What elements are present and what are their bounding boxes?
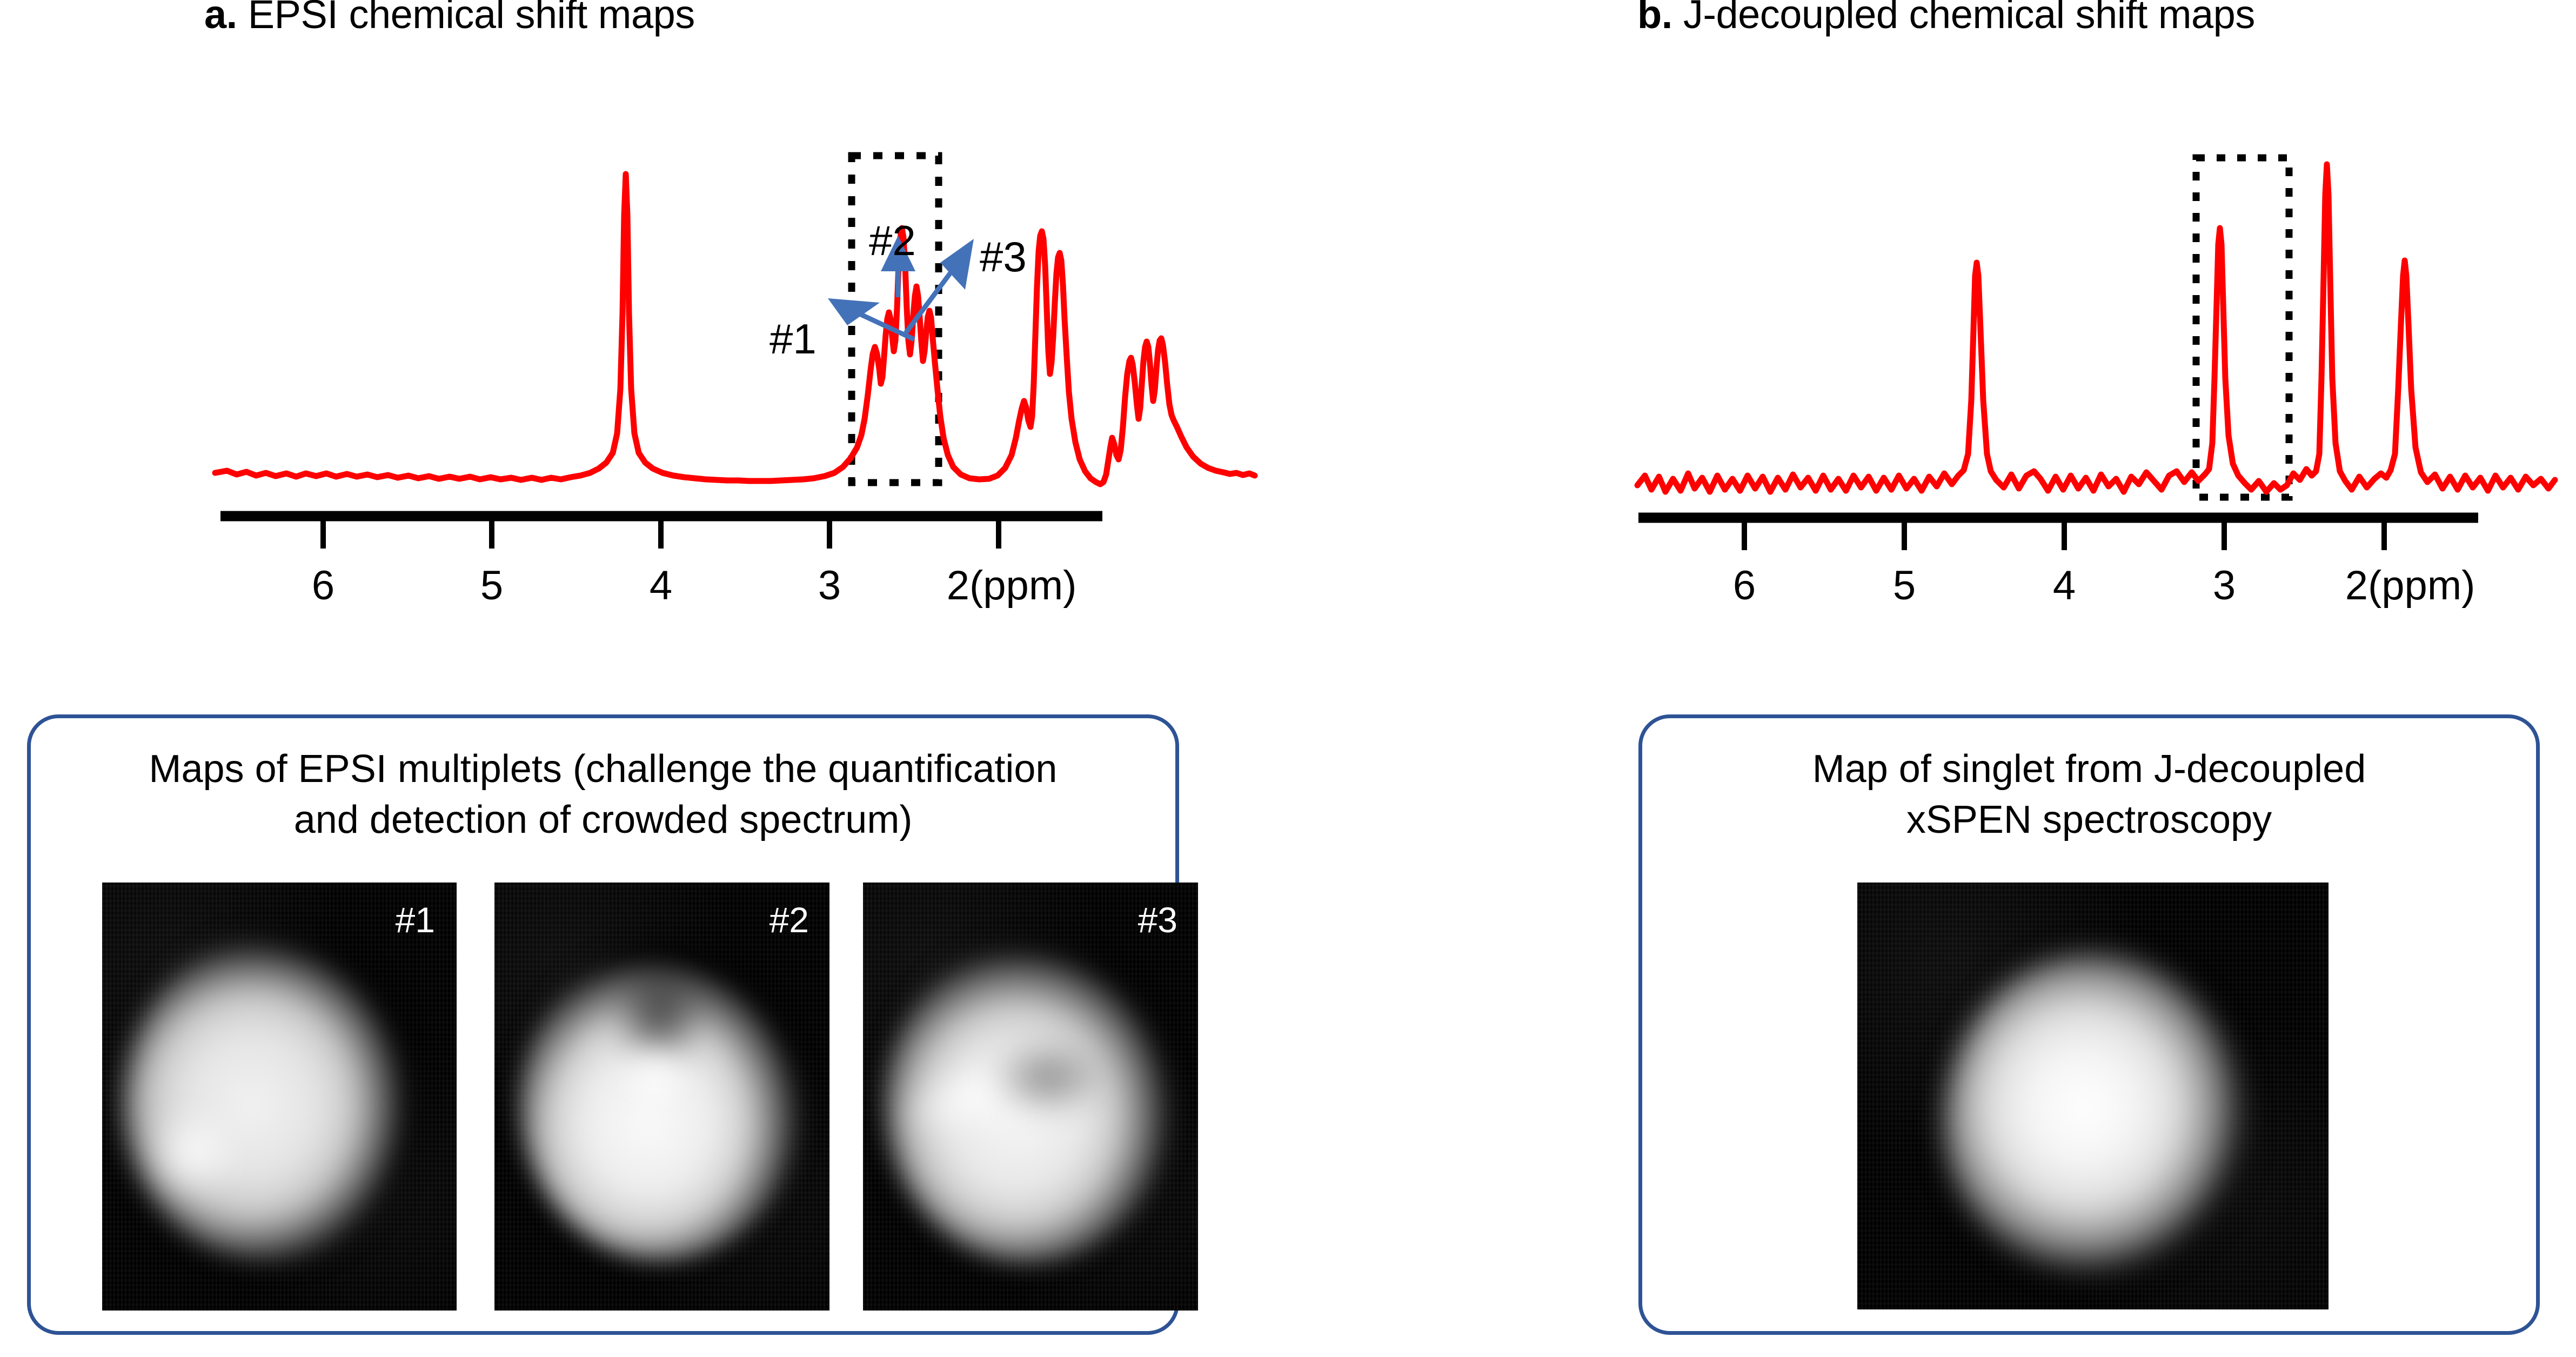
epsi-tick-label-6: 6 xyxy=(312,562,334,609)
map-2-hotspot xyxy=(620,1045,690,1109)
epsi-map-1-label: #1 xyxy=(396,902,435,938)
panel-b-title: b. J-decoupled chemical shift maps xyxy=(1637,0,2255,37)
panel-b-letter: b. xyxy=(1637,0,1672,37)
jdecoupled-tick-label-4: 4 xyxy=(2053,562,2076,609)
panel-a-title: a. EPSI chemical shift maps xyxy=(204,0,695,37)
panel-a-letter: a. xyxy=(204,0,237,37)
peak-tag-3: #3 xyxy=(980,232,1027,282)
jdecoupled-spectrum-plot xyxy=(1632,97,2561,513)
epsi-tick-label-4: 4 xyxy=(650,562,672,609)
jdecoupled-tick-label-3: 3 xyxy=(2213,562,2236,609)
panel-a-title-text: EPSI chemical shift maps xyxy=(248,0,695,37)
panel-b-title-text: J-decoupled chemical shift maps xyxy=(1683,0,2255,37)
epsi-map-3: #3 xyxy=(863,883,1198,1311)
epsi-axis xyxy=(205,508,1264,557)
epsi-tick-label-2-ppm: 2(ppm) xyxy=(947,562,1077,609)
jdecoupled-box-caption: Map of singlet from J-decoupled xSPEN sp… xyxy=(1642,744,2536,845)
jdecoupled-trace xyxy=(1637,164,2555,492)
epsi-map-3-label: #3 xyxy=(1138,902,1177,938)
epsi-annotations xyxy=(746,124,1178,427)
epsi-annotation-svg xyxy=(746,124,1178,427)
map-1-hotspot xyxy=(144,1109,242,1196)
map-3-dark-center xyxy=(987,1039,1106,1115)
epsi-box-caption-line2: and detection of crowded spectrum) xyxy=(31,795,1175,846)
jdecoupled-spectrum-svg xyxy=(1632,97,2561,513)
map-1-blob xyxy=(123,937,414,1261)
epsi-map-2: #2 xyxy=(494,883,829,1311)
epsi-tick-label-3: 3 xyxy=(818,562,841,609)
jdecoupled-tick-label-6: 6 xyxy=(1733,562,1756,609)
epsi-tick-label-5: 5 xyxy=(480,562,503,609)
peak-tag-2: #2 xyxy=(869,216,916,265)
jdecoupled-axis-svg xyxy=(1632,508,2561,557)
jdecoupled-axis xyxy=(1632,508,2561,557)
epsi-map-2-label: #2 xyxy=(770,902,809,938)
epsi-maps-box: Maps of EPSI multiplets (challenge the q… xyxy=(27,714,1179,1335)
epsi-box-caption: Maps of EPSI multiplets (challenge the q… xyxy=(31,744,1175,845)
jdecoupled-box-caption-line2: xSPEN spectroscopy xyxy=(1642,795,2536,846)
epsi-box-caption-line1: Maps of EPSI multiplets (challenge the q… xyxy=(31,744,1175,795)
annotation-3-arrow-line xyxy=(906,269,953,333)
jdecoupled-box-caption-line1: Map of singlet from J-decoupled xyxy=(1642,744,2536,795)
epsi-axis-svg xyxy=(205,508,1264,557)
jdecoupled-tick-label-2-ppm: 2(ppm) xyxy=(2345,562,2475,609)
epsi-map-1: #1 xyxy=(102,883,457,1311)
jdecoupled-map-box: Map of singlet from J-decoupled xSPEN sp… xyxy=(1638,714,2540,1335)
jdecoupled-map xyxy=(1857,883,2329,1309)
peak-tag-1: #1 xyxy=(770,315,817,364)
jdecoupled-tick-label-5: 5 xyxy=(1893,562,1916,609)
